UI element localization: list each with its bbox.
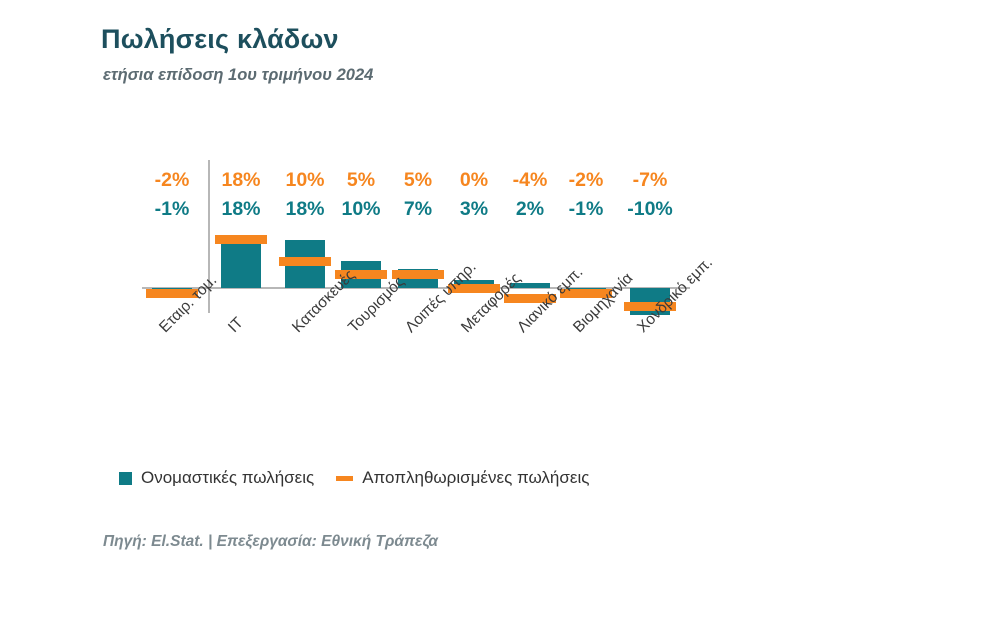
legend-label-deflated: Αποπληθωρισμένες πωλήσεις [362,468,589,488]
marker-deflated-1 [215,235,267,244]
legend-label-nominal: Ονομαστικές πωλήσεις [141,468,314,488]
category-label-0: Εταιρ. τομ. [156,272,221,337]
value-label-deflated-8: -7% [605,167,695,193]
chart-legend: Ονομαστικές πωλήσεις Αποπληθωρισμένες πω… [119,468,589,488]
value-label-nominal-8: -10% [605,196,695,222]
marker-deflated-2 [279,257,331,266]
bar-nominal-1 [221,240,261,288]
dash-swatch-icon [336,476,353,481]
chart-plot-area: -2%-1%18%18%10%18%5%10%5%7%0%3%-4%2%-2%-… [0,0,1000,618]
square-swatch-icon [119,472,132,485]
category-label-1: IT [225,314,247,336]
legend-item-deflated[interactable]: Αποπληθωρισμένες πωλήσεις [336,468,589,488]
chart-card: Πωλήσεις κλάδων ετήσια επίδοση 1ου τριμή… [0,0,1000,618]
source-note: Πηγή: El.Stat. | Επεξεργασία: Εθνική Τρά… [103,533,438,551]
legend-item-nominal[interactable]: Ονομαστικές πωλήσεις [119,468,314,488]
